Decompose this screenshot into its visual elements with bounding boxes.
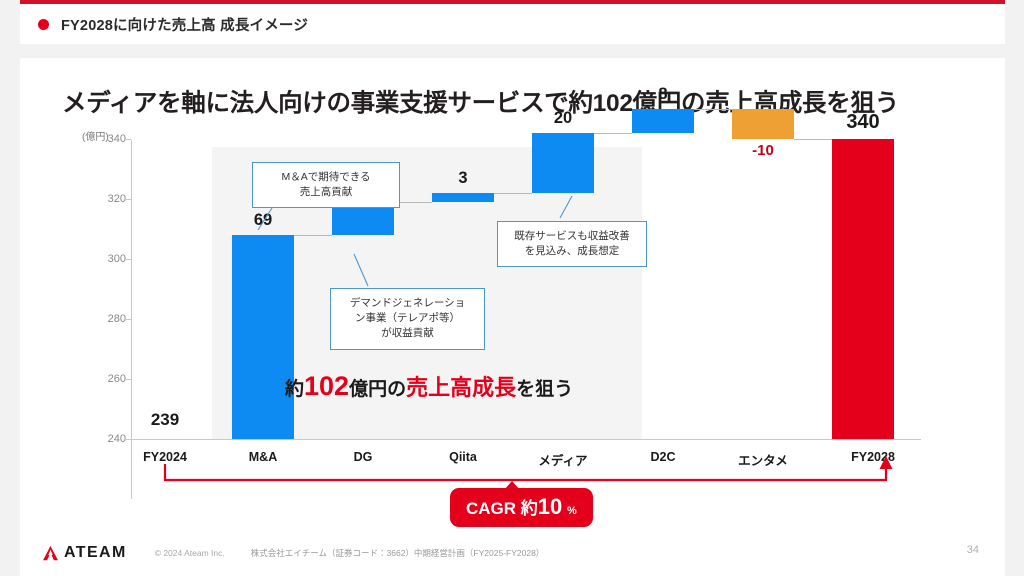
- cagr-label: CAGR 約: [466, 499, 538, 518]
- statement-prefix: 約: [285, 379, 304, 400]
- ateam-logo: ATEAM: [42, 544, 127, 562]
- ateam-logo-text: ATEAM: [64, 544, 127, 562]
- ateam-a-logo-icon: [42, 546, 59, 561]
- slide-footer: ATEAM © 2024 Ateam Inc. 株式会社エイチーム（証券コード：…: [20, 530, 1005, 576]
- cagr-unit: %: [567, 505, 577, 517]
- waterfall-chart: (億円) 240 260 280 300 320 340 239 69: [20, 58, 1005, 530]
- slide-root: FY2028に向けた売上高 成長イメージ メディアを軸に法人向けの事業支援サービ…: [0, 0, 1024, 576]
- header-title: FY2028に向けた売上高 成長イメージ: [61, 14, 308, 35]
- copyright-text: © 2024 Ateam Inc.: [155, 548, 225, 558]
- content-card: メディアを軸に法人向けの事業支援サービスで約102億円の売上高成長を狙う (億円…: [20, 58, 1005, 530]
- slide-header: FY2028に向けた売上高 成長イメージ: [20, 4, 1005, 44]
- statement-highlight: 売上高成長: [406, 375, 516, 400]
- statement-amount: 102: [304, 371, 349, 401]
- center-growth-statement: 約102億円の売上高成長を狙う: [285, 370, 573, 402]
- red-dot-icon: [38, 19, 49, 30]
- media-callout-leader-line: [20, 58, 1005, 530]
- page-number: 34: [967, 544, 979, 556]
- cagr-value: 10: [538, 494, 562, 519]
- statement-suffix: を狙う: [516, 379, 573, 400]
- cagr-badge: CAGR 約10 %: [450, 488, 593, 527]
- statement-middle: 億円の: [349, 379, 406, 400]
- footer-note: 株式会社エイチーム（証券コード：3662）中期経営計画（FY2025-FY202…: [251, 547, 545, 559]
